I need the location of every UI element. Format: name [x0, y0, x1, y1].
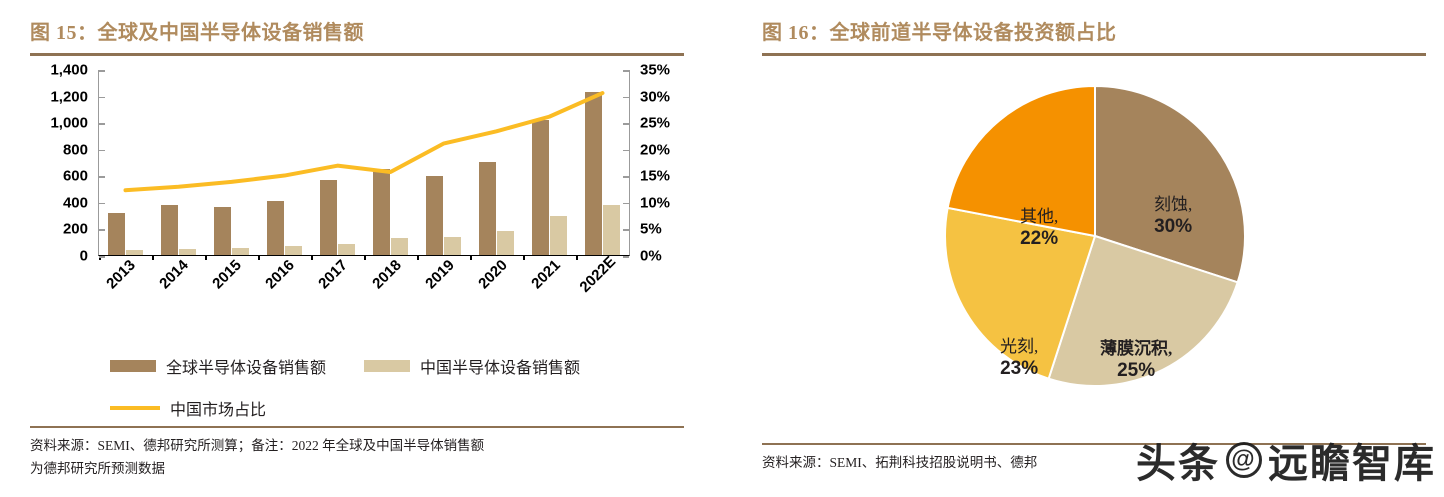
y-tick-600: 600 [63, 168, 88, 185]
pie-label-litho: 光刻, 23% [1000, 336, 1038, 381]
chart-legend: 全球半导体设备销售额 中国半导体设备销售额 中国市场占比 [110, 354, 684, 420]
watermark-name: 远瞻智库 [1268, 431, 1436, 489]
figure-16-title-rule [762, 53, 1426, 56]
axis-tickmark-right [623, 229, 629, 231]
axis-tickmark-right [623, 203, 629, 205]
y-tick-400: 400 [63, 194, 88, 211]
pie-label-etch-cat: 刻蚀, [1154, 194, 1192, 215]
axis-tickmark-left [99, 150, 105, 152]
y2-tick-15pct: 15% [640, 168, 670, 185]
axis-tickmark-left [99, 123, 105, 125]
x-label-cell: 2016 [258, 258, 311, 318]
figure-16-title-text: 全球前道半导体设备投资额占比 [830, 22, 1117, 44]
pie-label-other-val: 22% [1020, 227, 1058, 251]
figure-15-title: 图 15：全球及中国半导体设备销售额 [30, 0, 684, 45]
axis-tickmark-left [99, 97, 105, 99]
pie-label-deposition-val: 25% [1100, 359, 1172, 383]
axis-tickmark-left [99, 203, 105, 205]
pie-label-etch-val: 30% [1154, 215, 1192, 239]
x-label-2016: 2016 [262, 257, 298, 293]
x-label-2018: 2018 [369, 257, 405, 293]
figure-15-panel: 图 15：全球及中国半导体设备销售额 02004006008001,0001,2… [0, 0, 702, 497]
x-label-cell: 2019 [417, 258, 470, 318]
bar-china-2014[interactable] [179, 249, 196, 255]
y2-tick-20pct: 20% [640, 141, 670, 158]
figure-15-source-note: 资料来源：SEMI、德邦研究所测算；备注：2022 年全球及中国半导体销售额 为… [30, 428, 684, 481]
y-tick-1000: 1,000 [50, 115, 88, 132]
axis-tickmark-left [99, 70, 105, 72]
primary-y-axis: 02004006008001,0001,2001,400 [32, 70, 88, 256]
y-tick-1200: 1,200 [50, 88, 88, 105]
bar-china-2017[interactable] [338, 244, 355, 255]
figure-15-title-text: 全球及中国半导体设备销售额 [98, 22, 365, 44]
y-tick-800: 800 [63, 141, 88, 158]
pie-svg [930, 76, 1260, 396]
x-label-2020: 2020 [475, 257, 511, 293]
y2-tick-25pct: 25% [640, 115, 670, 132]
x-label-cell: 2021 [524, 258, 577, 318]
legend-swatch-china-icon [364, 360, 410, 372]
bar-china-2013[interactable] [126, 250, 143, 255]
axis-tickmark-right [623, 123, 629, 125]
x-label-2021: 2021 [528, 257, 564, 293]
y2-tick-5pct: 5% [640, 221, 662, 238]
plot-area [98, 70, 630, 256]
legend-swatch-ratio-line-icon [110, 406, 160, 410]
legend-row-2: 中国市场占比 [110, 396, 684, 420]
y-tick-200: 200 [63, 221, 88, 238]
axis-tickmark-left [99, 176, 105, 178]
ratio-line-series [99, 70, 629, 242]
watermark-at-icon: @ [1226, 442, 1262, 478]
y-tick-1400: 1,400 [50, 62, 88, 79]
axis-tickmark-right [623, 97, 629, 99]
semiconductor-equipment-sales-chart: 02004006008001,0001,2001,400 0%5%10%15%2… [32, 70, 692, 280]
y2-tick-30pct: 30% [640, 88, 670, 105]
pie-label-etch: 刻蚀, 30% [1154, 194, 1192, 239]
x-label-2015: 2015 [209, 257, 245, 293]
legend-item-china[interactable]: 中国半导体设备销售额 [364, 354, 580, 378]
legend-label-china: 中国半导体设备销售额 [420, 354, 580, 378]
legend-label-ratio: 中国市场占比 [170, 396, 266, 420]
x-label-2017: 2017 [316, 257, 352, 293]
x-label-2013: 2013 [103, 257, 139, 293]
y-tick-0: 0 [80, 248, 88, 265]
watermark: 头条 @ 远瞻智库 [1136, 431, 1436, 489]
axis-tickmark-right [623, 70, 629, 72]
secondary-y-axis: 0%5%10%15%20%25%30%35% [636, 70, 692, 256]
figure-15-title-rule [30, 53, 684, 56]
figure-15-footer: 资料来源：SEMI、德邦研究所测算；备注：2022 年全球及中国半导体销售额 为… [30, 426, 684, 481]
bar-china-2016[interactable] [285, 246, 302, 255]
x-label-cell: 2022E [577, 258, 630, 318]
x-label-2014: 2014 [156, 257, 192, 293]
ratio-line-path [125, 93, 602, 190]
x-label-2022E: 2022E [577, 253, 620, 296]
bar-china-2015[interactable] [232, 248, 249, 255]
legend-swatch-global-icon [110, 360, 156, 372]
x-label-cell: 2013 [98, 258, 151, 318]
legend-row-1: 全球半导体设备销售额 中国半导体设备销售额 [110, 354, 684, 378]
legend-label-global: 全球半导体设备销售额 [166, 354, 326, 378]
axis-tickmark-left [99, 229, 105, 231]
pie-label-other-cat: 其他, [1020, 206, 1058, 227]
x-label-cell: 2014 [151, 258, 204, 318]
y2-tick-10pct: 10% [640, 194, 670, 211]
figure-16-label: 图 16： [762, 22, 830, 44]
y2-tick-35pct: 35% [640, 62, 670, 79]
figure-16-panel: 图 16：全球前道半导体设备投资额占比 刻蚀, 30% 薄膜沉积, 25% 光刻… [742, 0, 1444, 497]
pie-label-other: 其他, 22% [1020, 206, 1058, 251]
axis-tickmark-right [623, 150, 629, 152]
pie-label-deposition-cat: 薄膜沉积, [1100, 338, 1172, 359]
watermark-toutiao: 头条 [1136, 431, 1220, 489]
x-label-cell: 2018 [364, 258, 417, 318]
figure-16-title: 图 16：全球前道半导体设备投资额占比 [762, 0, 1426, 45]
pie-label-deposition: 薄膜沉积, 25% [1100, 338, 1172, 383]
x-label-cell: 2020 [470, 258, 523, 318]
axis-tickmark-right [623, 176, 629, 178]
pie-label-litho-cat: 光刻, [1000, 336, 1038, 357]
report-figures-page: 图 15：全球及中国半导体设备销售额 02004006008001,0001,2… [0, 0, 1444, 497]
legend-item-global[interactable]: 全球半导体设备销售额 [110, 354, 326, 378]
x-label-cell: 2015 [204, 258, 257, 318]
legend-item-ratio[interactable]: 中国市场占比 [110, 396, 266, 420]
frontend-equipment-investment-pie-chart: 刻蚀, 30% 薄膜沉积, 25% 光刻, 23% 其他, 22% [762, 66, 1426, 406]
y2-tick-0pct: 0% [640, 248, 662, 265]
pie-label-litho-val: 23% [1000, 357, 1038, 381]
x-label-2019: 2019 [422, 257, 458, 293]
x-label-cell: 2017 [311, 258, 364, 318]
figure-15-label: 图 15： [30, 22, 98, 44]
x-axis-labels: 2013201420152016201720182019202020212022… [98, 258, 630, 318]
